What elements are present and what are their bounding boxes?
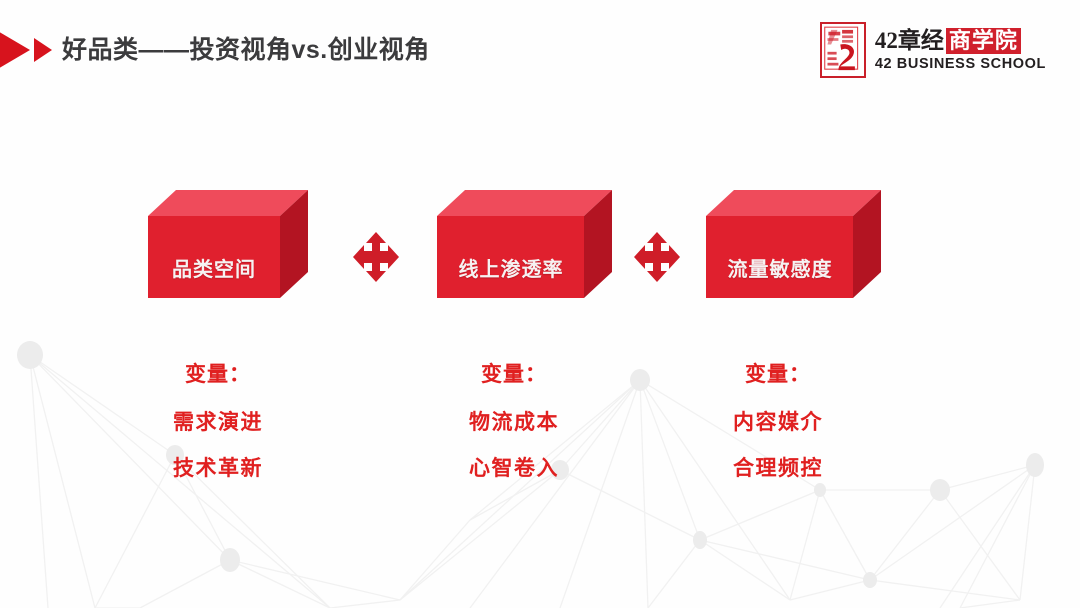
variable-column-2-item-1: 物流成本 — [404, 408, 624, 438]
logo-name-dark: 42章经 — [875, 28, 944, 54]
variable-column-2-head: 变量： — [404, 360, 624, 390]
diagram-box-2[interactable]: 线上渗透率 — [437, 190, 597, 322]
variable-column-2: 变量： 物流成本 心智卷入 — [404, 360, 624, 500]
variable-column-2-item-2: 心智卷入 — [404, 454, 624, 484]
diagram-box-1[interactable]: 品类空间 — [148, 190, 308, 322]
slide-header: 好品类——投资视角vs.创业视角 — [0, 0, 1080, 96]
logo-seal-icon — [820, 22, 866, 78]
page-title: 好品类——投资视角vs.创业视角 — [62, 30, 430, 66]
logo-name-en: 42 BUSINESS SCHOOL — [875, 56, 1046, 73]
logo-wordmark: 42章经 商学院 42 BUSINESS SCHOOL — [875, 28, 1046, 73]
diagram-box-3[interactable]: 流量敏感度 — [706, 190, 866, 322]
variable-column-1-item-1: 需求演进 — [108, 408, 328, 438]
variable-column-1-item-2: 技术革新 — [108, 454, 328, 484]
slide-canvas: 好品类——投资视角vs.创业视角 — [0, 0, 1080, 608]
variable-column-3-item-1: 内容媒介 — [668, 408, 888, 438]
brand-logo: 42章经 商学院 42 BUSINESS SCHOOL — [820, 22, 1046, 78]
four-way-arrow-icon — [353, 232, 399, 282]
variable-column-1-head: 变量： — [108, 360, 328, 390]
double-triangle-right-icon — [0, 28, 52, 72]
logo-name-red: 商学院 — [946, 28, 1021, 54]
four-way-arrow-icon-2 — [634, 232, 680, 282]
variable-column-3-item-2: 合理频控 — [668, 454, 888, 484]
variable-column-3-head: 变量： — [668, 360, 888, 390]
variable-column-3: 变量： 内容媒介 合理频控 — [668, 360, 888, 500]
variable-column-1: 变量： 需求演进 技术革新 — [108, 360, 328, 500]
